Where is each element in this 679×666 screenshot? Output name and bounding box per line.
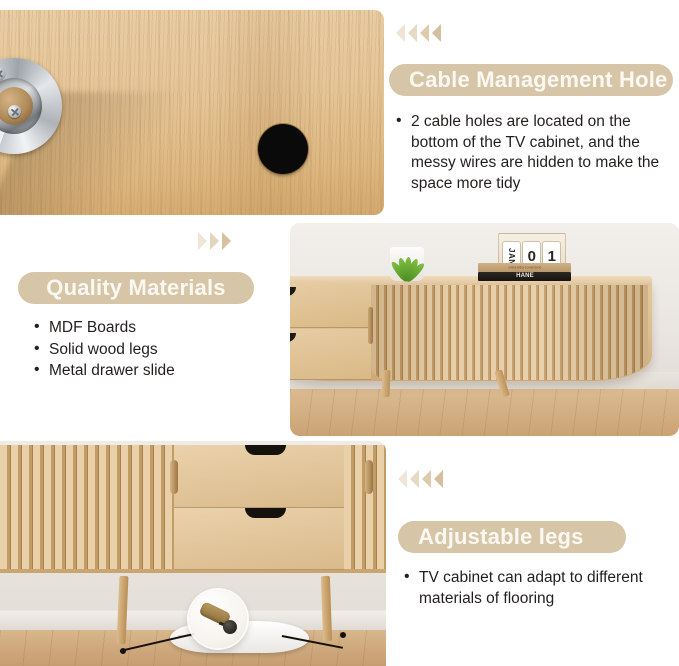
chevron-right-icon (198, 232, 207, 250)
photo-adjustable-legs (0, 441, 386, 666)
door-handle (368, 307, 373, 344)
screw-icon (0, 67, 5, 80)
room-floor (290, 389, 679, 436)
cabinet-leg (382, 369, 391, 396)
wood-grain-knot (200, 10, 331, 215)
chevron-left-icon (432, 24, 441, 42)
chevron-left-icon (396, 24, 405, 42)
chevron-group-right-1 (198, 232, 231, 250)
chevron-left-icon (410, 470, 419, 488)
drawer-notch-handle (245, 508, 286, 518)
drawer-notch-handle (245, 445, 286, 455)
tv-cabinet-lower (0, 445, 386, 573)
photo-quality-materials: JAN 0 1 amanda lovelace HANE (290, 223, 679, 436)
drawer-notch-handle (290, 333, 296, 342)
fluted-door-left (0, 445, 174, 569)
chevron-group-left-1 (396, 24, 441, 42)
list-item: MDF Boards (34, 318, 269, 339)
chevron-left-icon (420, 24, 429, 42)
tv-cabinet: JAN 0 1 amanda lovelace HANE (290, 281, 652, 381)
drawer (174, 508, 344, 571)
chevron-group-left-2 (398, 470, 443, 488)
screw-icon (8, 105, 21, 118)
section-title-cable-management: Cable Management Hole (389, 64, 673, 96)
list-item: TV cabinet can adapt to different materi… (404, 568, 654, 609)
chevron-right-icon (222, 232, 231, 250)
plant-pot (390, 247, 424, 281)
adjustable-foot-knob (223, 620, 237, 634)
chevron-left-icon (434, 470, 443, 488)
list-item: Solid wood legs (34, 340, 269, 361)
bullet-list-quality-materials: MDF Boards Solid wood legs Metal drawer … (34, 318, 269, 383)
chevron-left-icon (398, 470, 407, 488)
list-item: 2 cable holes are located on the bottom … (396, 112, 664, 194)
book-stack-item: amanda lovelace (478, 263, 571, 272)
door-handle (365, 460, 373, 493)
door-handle (170, 460, 178, 493)
door-shading (371, 285, 648, 380)
wire-endpoint (340, 632, 346, 638)
book-title: amanda lovelace (478, 265, 571, 270)
chevron-left-icon (422, 470, 431, 488)
section-title-quality-materials: Quality Materials (18, 272, 254, 304)
drawer (290, 283, 371, 328)
wire-endpoint (120, 648, 126, 654)
cable-hole (258, 124, 308, 174)
book-title: HANE (478, 273, 571, 279)
section-title-text: Cable Management Hole (409, 69, 667, 91)
list-item: Metal drawer slide (34, 361, 269, 382)
cabinet-drawers (290, 283, 371, 379)
bullet-list-adjustable-legs: TV cabinet can adapt to different materi… (404, 568, 654, 609)
section-title-adjustable-legs: Adjustable legs (398, 521, 626, 553)
chevron-left-icon (408, 24, 417, 42)
photo-cable-management (0, 10, 384, 215)
section-title-text: Quality Materials (46, 277, 225, 299)
drawer-notch-handle (290, 287, 296, 296)
drawer (290, 329, 371, 380)
bullet-list-cable-management: 2 cable holes are located on the bottom … (396, 112, 664, 194)
drawer (174, 445, 344, 508)
section-title-text: Adjustable legs (418, 526, 584, 548)
chevron-right-icon (210, 232, 219, 250)
magnifier-callout (189, 590, 247, 648)
book-stack-item: HANE (478, 272, 571, 281)
fluted-sliding-door (371, 285, 648, 380)
